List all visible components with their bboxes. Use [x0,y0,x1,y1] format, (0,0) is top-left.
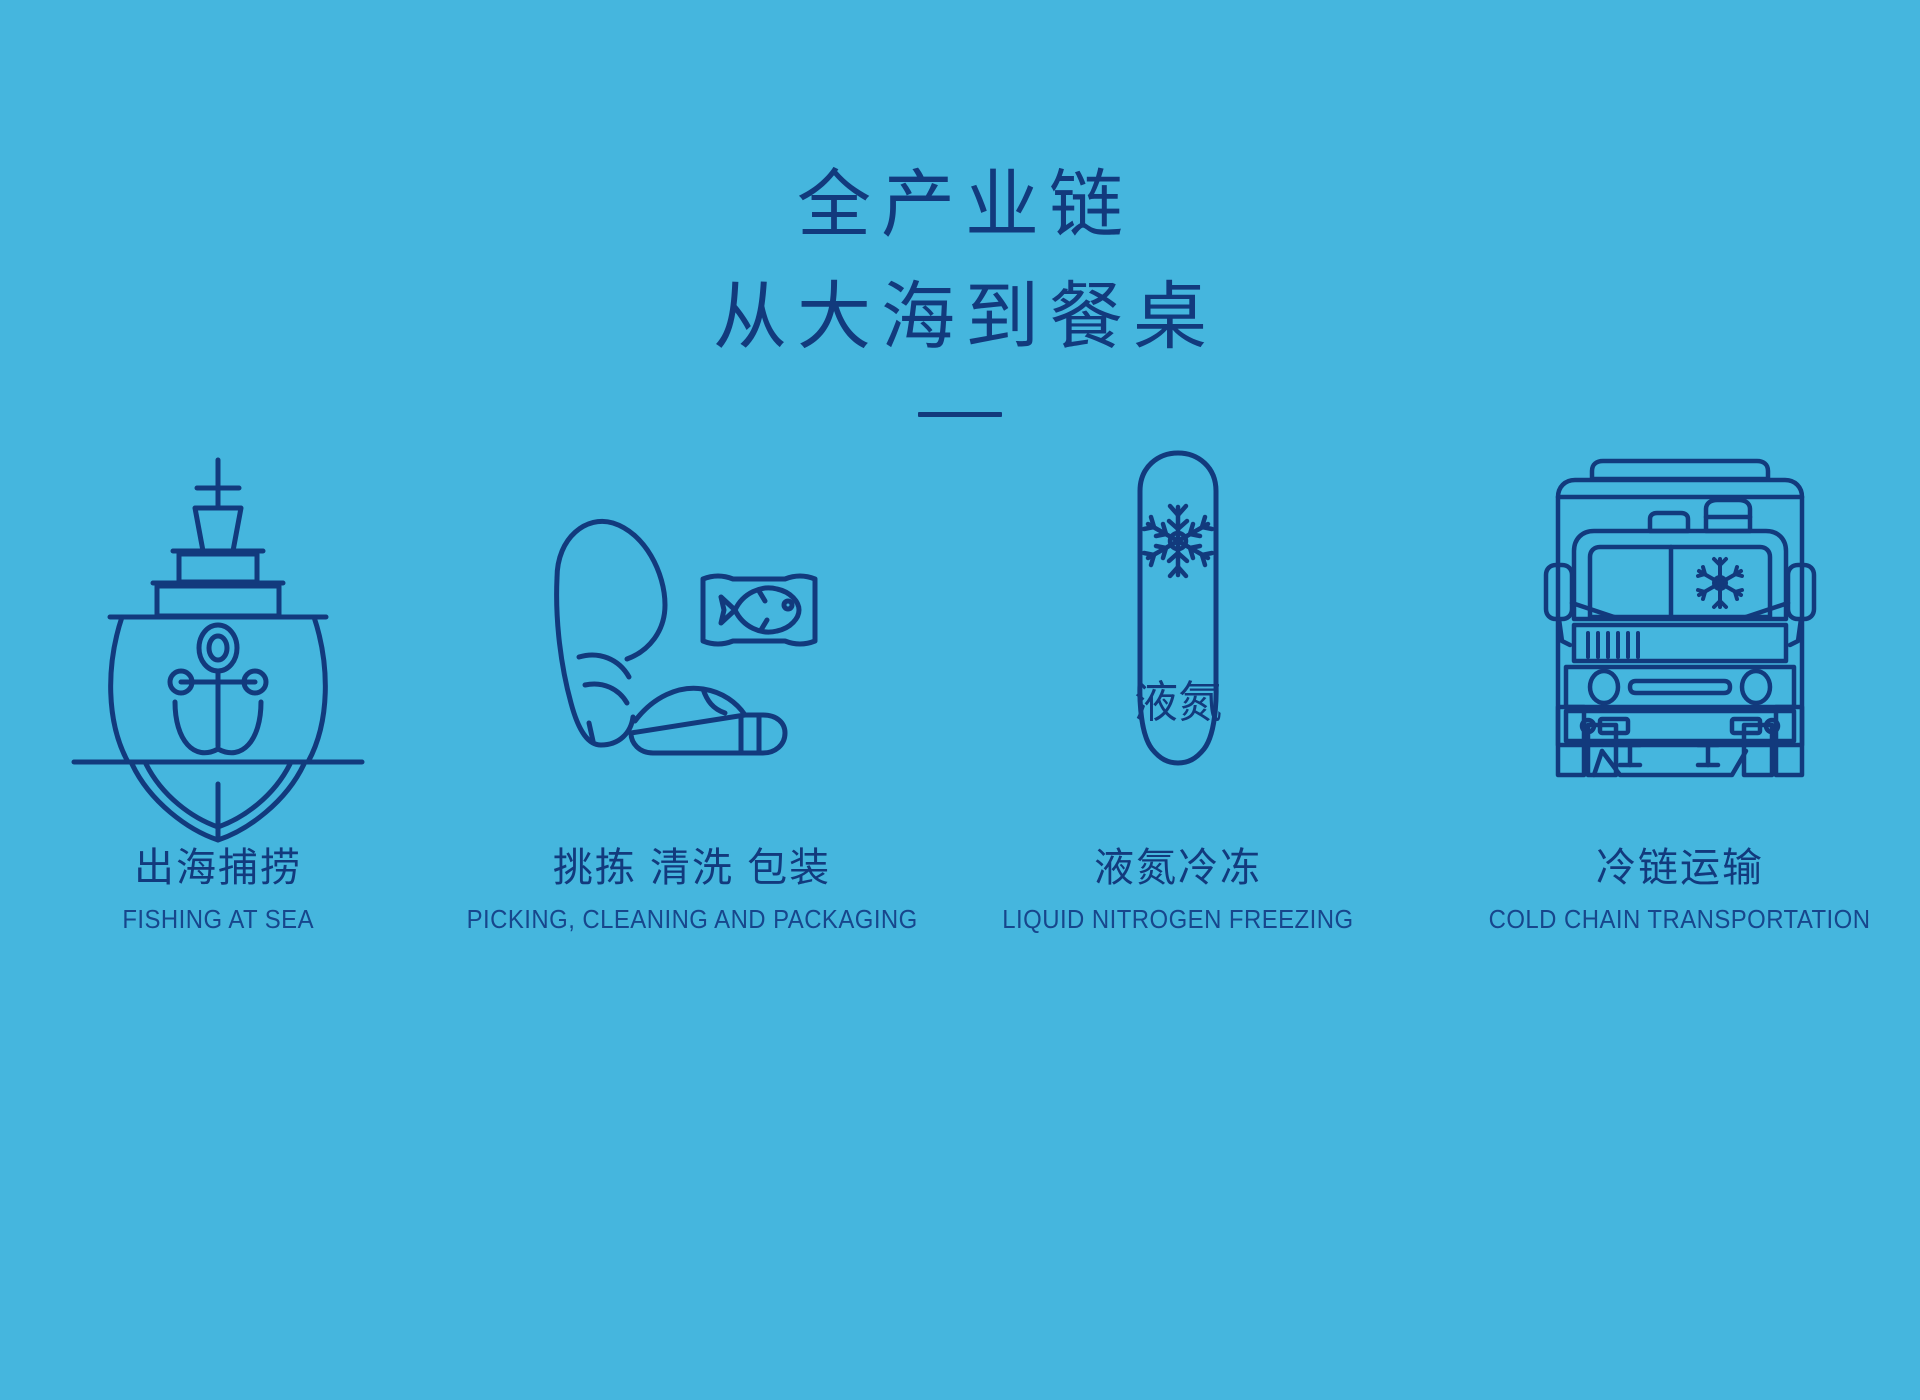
step-fishing-at-sea: 出海捕捞 FISHING AT SEA [0,430,458,936]
step-label-cn: 液氮冷冻 [987,842,1369,894]
step-label-cn: 出海捕捞 [114,842,322,894]
step-picking-cleaning-packaging: 挑拣 清洗 包装 PICKING, CLEANING AND PACKAGING [452,430,932,936]
step-label-cn: 挑拣 清洗 包装 [447,842,937,894]
step-label-en: FISHING AT SEA [122,902,314,936]
tank-label: 液氮 [1134,678,1222,727]
page-title-line-1: 全产业链 [0,150,1920,262]
step-label-en: LIQUID NITROGEN FREEZING [1002,902,1353,936]
step-labels: 液氮冷冻 LIQUID NITROGEN FREEZING [987,842,1369,936]
step-labels: 挑拣 清洗 包装 PICKING, CLEANING AND PACKAGING [447,842,937,936]
step-liquid-nitrogen-freezing: 液氮 液氮冷冻 LIQUID NITROGEN FREEZING [938,430,1418,936]
page-header: 全产业链 从大海到餐桌 [0,150,1920,417]
step-labels: 冷链运输 COLD CHAIN TRANSPORTATION [1472,842,1887,936]
title-divider [918,412,1002,417]
hands-with-packaged-fish-icon [527,430,857,790]
step-label-cn: 冷链运输 [1472,842,1887,894]
process-steps-row: 出海捕捞 FISHING AT SEA [0,430,1920,936]
snowflake-icon [1144,506,1212,576]
step-labels: 出海捕捞 FISHING AT SEA [114,842,322,936]
refrigerated-truck-icon [1540,430,1820,790]
step-label-en: PICKING, CLEANING AND PACKAGING [466,902,917,936]
fishing-boat-icon [58,430,378,790]
liquid-nitrogen-tank-icon: 液氮 [1078,430,1278,790]
step-cold-chain-transportation: 冷链运输 COLD CHAIN TRANSPORTATION [1440,430,1920,936]
snowflake-icon [1698,559,1742,607]
page-root: 全产业链 从大海到餐桌 [0,0,1920,1400]
page-title-line-2: 从大海到餐桌 [0,262,1920,374]
step-label-en: COLD CHAIN TRANSPORTATION [1489,902,1871,936]
